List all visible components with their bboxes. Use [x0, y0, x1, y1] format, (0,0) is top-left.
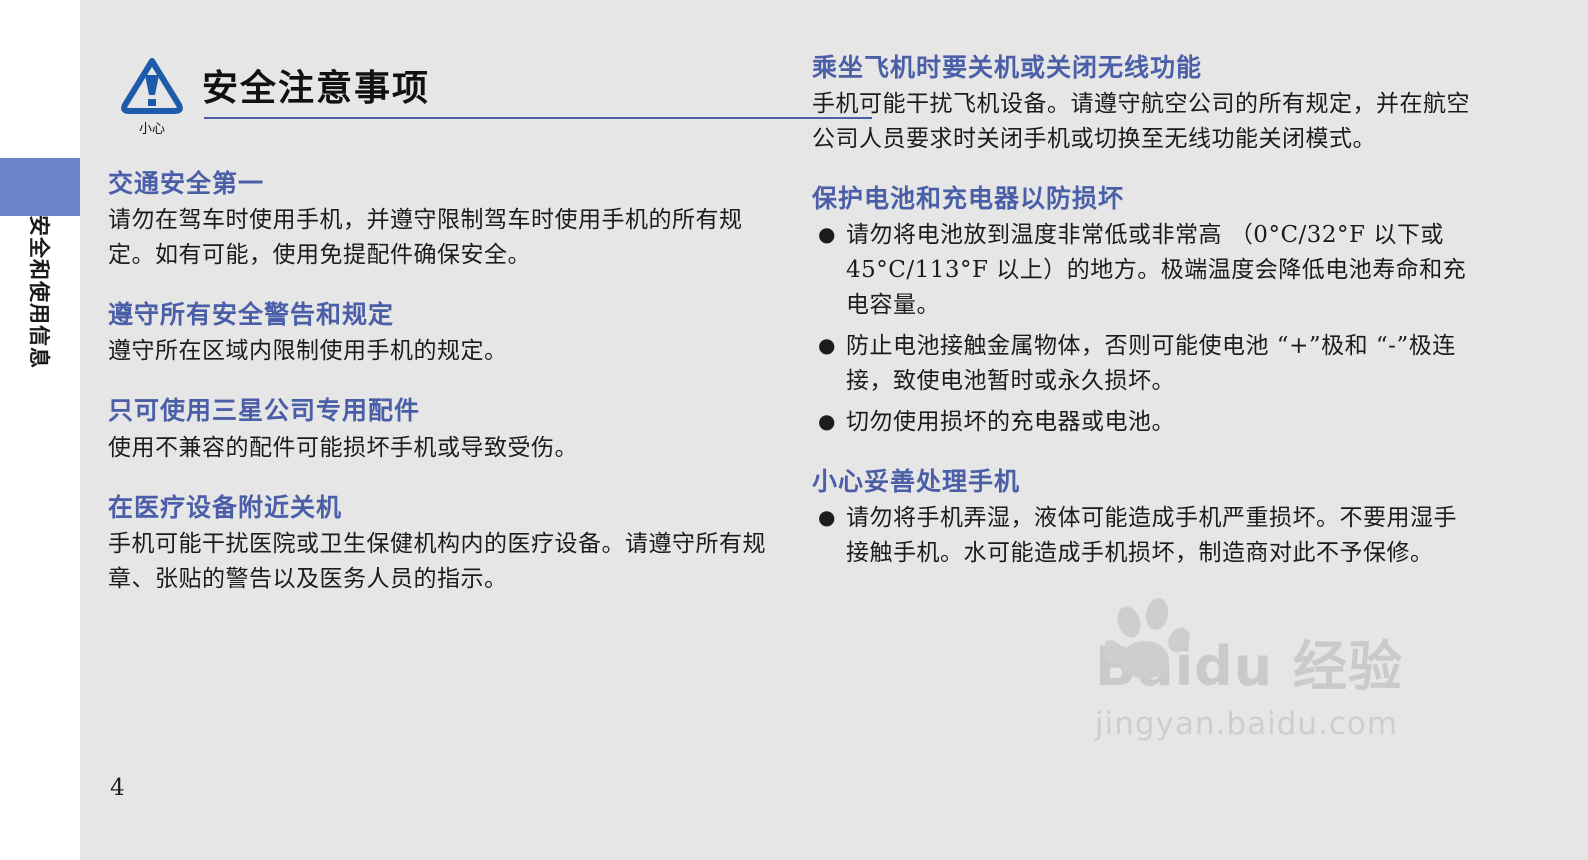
- bullet-dot-icon: ●: [818, 405, 836, 437]
- list-item-text: 防止电池接触金属物体，否则可能使电池 “+”极和 “-”极连接，致使电池暂时或永…: [846, 333, 1456, 394]
- caution-icon-caption: 小心: [112, 118, 192, 137]
- caution-triangle-icon: [119, 55, 185, 117]
- section-body: 手机可能干扰医院或卫生保健机构内的医疗设备。请遵守所有规章、张贴的警告以及医务人…: [108, 527, 768, 597]
- section-handle-phone-carefully: 小心妥善处理手机 ● 请勿将手机弄湿，液体可能造成手机严重损坏。不要用湿手接触手…: [812, 466, 1472, 571]
- section-body: 请勿在驾车时使用手机，并遵守限制驾车时使用手机的所有规定。如有可能，使用免提配件…: [108, 203, 768, 273]
- section-heading: 在医疗设备附近关机: [108, 492, 768, 523]
- section-heading: 交通安全第一: [108, 168, 768, 199]
- list-item: ● 防止电池接触金属物体，否则可能使电池 “+”极和 “-”极连接，致使电池暂时…: [812, 329, 1472, 399]
- left-column: 交通安全第一 请勿在驾车时使用手机，并遵守限制驾车时使用手机的所有规定。如有可能…: [108, 168, 768, 597]
- section-medical-equipment: 在医疗设备附近关机 手机可能干扰医院或卫生保健机构内的医疗设备。请遵守所有规章、…: [108, 492, 768, 597]
- section-body: 手机可能干扰飞机设备。请遵守航空公司的所有规定，并在航空公司人员要求时关闭手机或…: [812, 87, 1472, 157]
- section-samsung-accessories: 只可使用三星公司专用配件 使用不兼容的配件可能损坏手机或导致受伤。: [108, 395, 768, 465]
- right-column: 乘坐飞机时要关机或关闭无线功能 手机可能干扰飞机设备。请遵守航空公司的所有规定，…: [812, 52, 1472, 577]
- list-item-text: 请勿将手机弄湿，液体可能造成手机严重损坏。不要用湿手接触手机。水可能造成手机损坏…: [846, 505, 1457, 566]
- list-item-text: 切勿使用损坏的充电器或电池。: [846, 409, 1175, 435]
- section-body: 使用不兼容的配件可能损坏手机或导致受伤。: [108, 431, 768, 466]
- section-aircraft: 乘坐飞机时要关机或关闭无线功能 手机可能干扰飞机设备。请遵守航空公司的所有规定，…: [812, 52, 1472, 157]
- bullet-list: ● 请勿将电池放到温度非常低或非常高 （0°C/32°F 以下或 45°C/11…: [812, 218, 1472, 440]
- list-item: ● 请勿将电池放到温度非常低或非常高 （0°C/32°F 以下或 45°C/11…: [812, 218, 1472, 323]
- side-tab-block: [0, 158, 80, 216]
- section-heading: 乘坐飞机时要关机或关闭无线功能: [812, 52, 1472, 83]
- page-header: 小心 安全注意事项: [112, 55, 792, 135]
- section-heading: 遵守所有安全警告和规定: [108, 299, 768, 330]
- left-white-margin: [0, 0, 80, 860]
- title-divider: [204, 117, 872, 119]
- section-heading: 小心妥善处理手机: [812, 466, 1472, 497]
- section-heading: 只可使用三星公司专用配件: [108, 395, 768, 426]
- bullet-dot-icon: ●: [818, 501, 836, 533]
- section-heading: 保护电池和充电器以防损坏: [812, 183, 1472, 214]
- page-title: 安全注意事项: [202, 59, 430, 111]
- list-item-text: 请勿将电池放到温度非常低或非常高 （0°C/32°F 以下或 45°C/113°…: [846, 222, 1466, 318]
- section-observe-warnings: 遵守所有安全警告和规定 遵守所在区域内限制使用手机的规定。: [108, 299, 768, 369]
- bullet-list: ● 请勿将手机弄湿，液体可能造成手机严重损坏。不要用湿手接触手机。水可能造成手机…: [812, 501, 1472, 571]
- bullet-dot-icon: ●: [818, 218, 836, 250]
- bullet-dot-icon: ●: [818, 329, 836, 361]
- side-tab-label: 安全和使用信息: [25, 215, 55, 415]
- section-battery-charger: 保护电池和充电器以防损坏 ● 请勿将电池放到温度非常低或非常高 （0°C/32°…: [812, 183, 1472, 440]
- section-traffic-safety: 交通安全第一 请勿在驾车时使用手机，并遵守限制驾车时使用手机的所有规定。如有可能…: [108, 168, 768, 273]
- page-root: 安全和使用信息 小心 安全注意事项 交通安全第一 请勿在驾车时使用手机，并遵守限…: [0, 0, 1588, 860]
- page-number: 4: [110, 775, 125, 801]
- list-item: ● 切勿使用损坏的充电器或电池。: [812, 405, 1472, 440]
- caution-icon-group: 小心: [112, 55, 192, 137]
- list-item: ● 请勿将手机弄湿，液体可能造成手机严重损坏。不要用湿手接触手机。水可能造成手机…: [812, 501, 1472, 571]
- section-body: 遵守所在区域内限制使用手机的规定。: [108, 334, 768, 369]
